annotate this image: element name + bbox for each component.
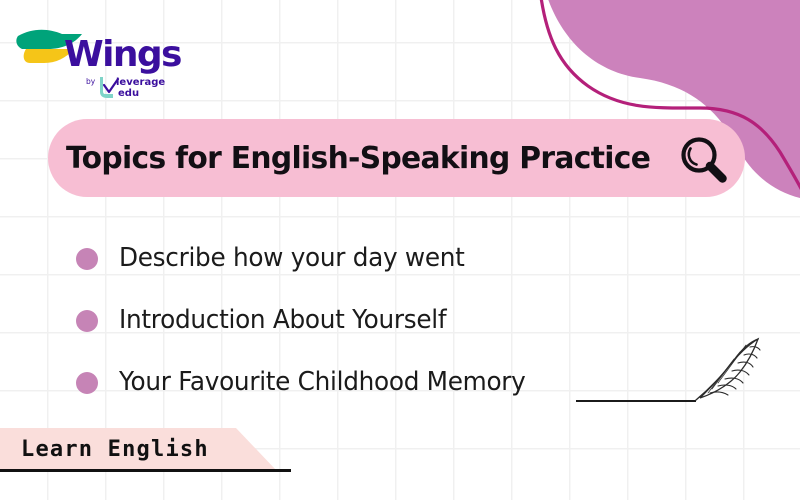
page-title: Topics for English-Speaking Practice (66, 141, 650, 176)
list-item: Describe how your day went (76, 228, 538, 290)
bullet-dot-icon (76, 372, 98, 394)
topic-label: Describe how your day went (119, 246, 465, 272)
bullet-dot-icon (76, 248, 98, 270)
logo-by-label: by (86, 77, 96, 86)
footer-rule (0, 469, 291, 472)
bullet-dot-icon (76, 310, 98, 332)
topics-list: Describe how your day went Introduction … (76, 228, 538, 414)
title-banner: Topics for English-Speaking Practice (48, 119, 745, 197)
logo-sub-secondary: edu (118, 88, 139, 99)
topic-label: Introduction About Yourself (119, 308, 446, 334)
brand-logo: Wings by leverage edu (14, 22, 194, 102)
feather-quill-icon (688, 336, 768, 408)
magnifying-glass-icon (677, 133, 729, 185)
logo-wordmark: Wings (64, 34, 181, 75)
list-item: Your Favourite Childhood Memory (76, 352, 538, 414)
fill-in-blank-rule (576, 400, 696, 402)
logo-sub-primary: leverage (116, 77, 165, 88)
topic-label: Your Favourite Childhood Memory (119, 370, 526, 396)
poster-canvas: Wings by leverage edu Topics for English… (0, 0, 800, 500)
list-item: Introduction About Yourself (76, 290, 538, 352)
footer-label: Learn English (21, 437, 209, 462)
